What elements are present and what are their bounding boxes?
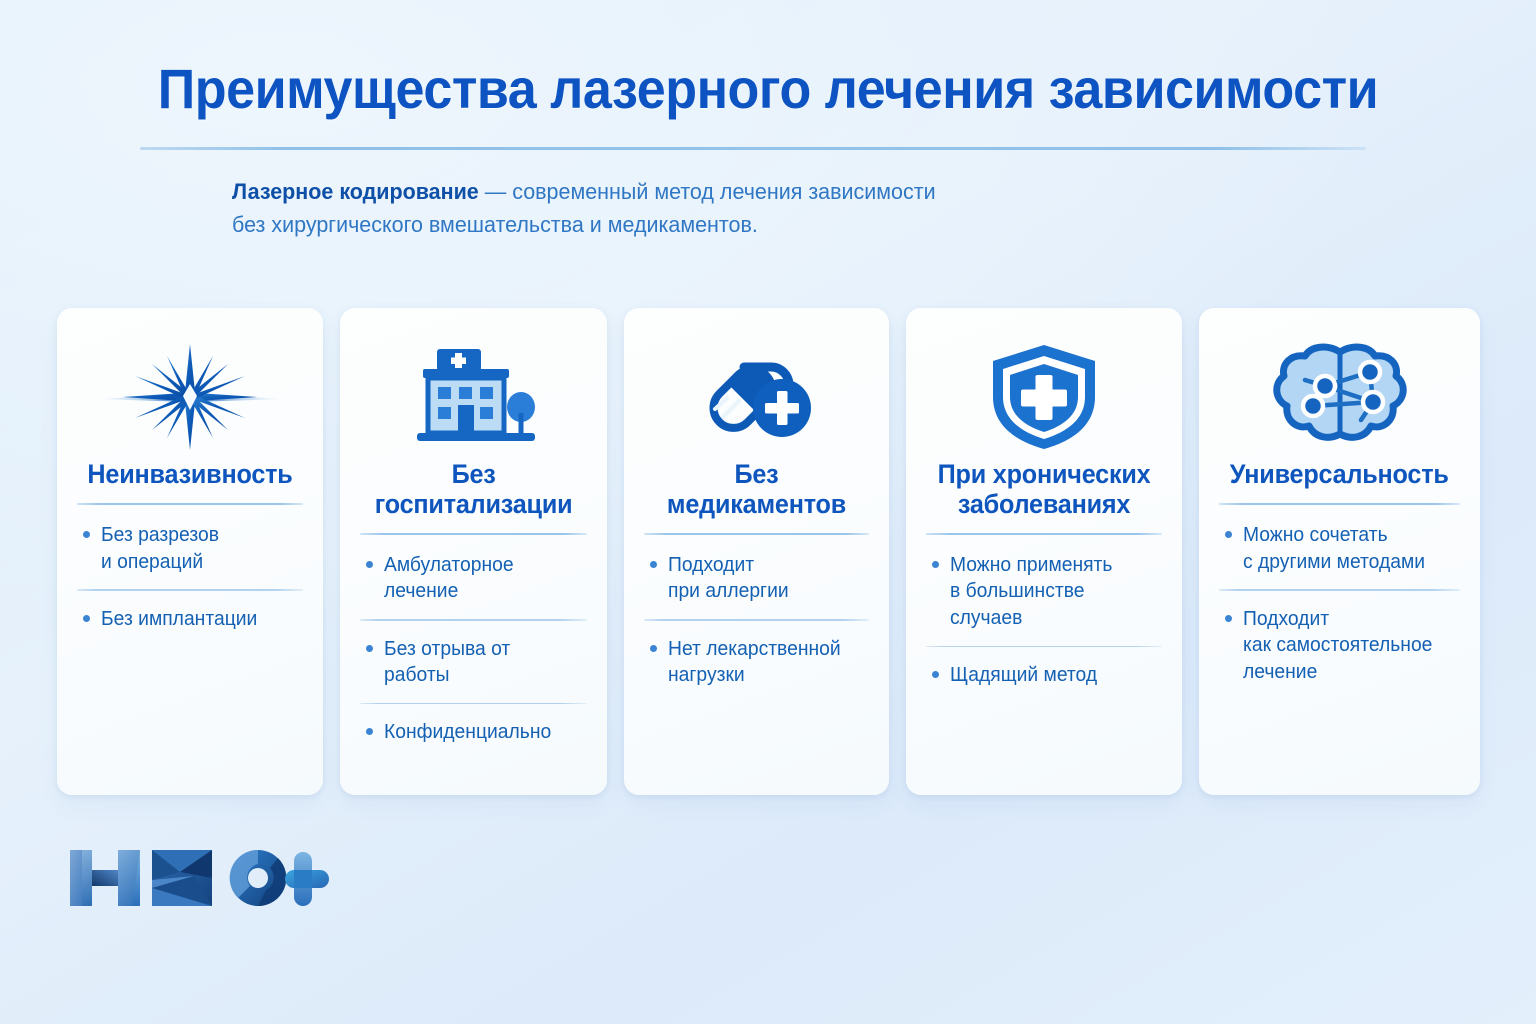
bullet-dot-icon — [83, 531, 90, 538]
card-title: Универсальность — [1230, 460, 1449, 490]
pill-capsule-icon — [687, 338, 827, 456]
bullet-text: Подходит при аллергии — [668, 552, 789, 605]
bullet-text: Нет лекарственной нагрузки — [668, 636, 841, 689]
card-bullets: Подходит при аллергии Нет лекарственной … — [644, 537, 869, 689]
bullet-text: Конфиденциально — [384, 719, 551, 746]
bullet-text: Без имплантации — [101, 606, 257, 633]
card-title: Без медикаментов — [650, 460, 864, 520]
bullet-dot-icon — [650, 645, 657, 652]
card-title: Без госпитализации — [366, 460, 582, 520]
benefit-card-noninvasive[interactable]: Неинвазивность Без разрезов и операций Б… — [57, 308, 323, 795]
shield-cross-icon — [979, 338, 1109, 456]
benefit-card-no-hospitalization[interactable]: Без госпитализации Амбулаторное лечение … — [340, 308, 607, 795]
subtitle-dash: — — [479, 179, 512, 204]
list-item: Нет лекарственной нагрузки — [644, 621, 869, 689]
list-item: Можно применять в большинстве случаев — [926, 537, 1162, 632]
list-item: Конфиденциально — [360, 704, 587, 746]
bullet-dot-icon — [366, 728, 373, 735]
list-item: Амбулаторное лечение — [360, 537, 587, 605]
subtitle-bold-term: Лазерное кодирование — [232, 179, 479, 204]
subtitle: Лазерное кодирование — современный метод… — [232, 175, 1168, 242]
card-title-divider — [644, 533, 869, 535]
list-item: Щадящий метод — [926, 647, 1162, 689]
neo-plus-logo[interactable] — [62, 838, 332, 918]
list-item: Без отрыва от работы — [360, 621, 587, 689]
card-title: Неинвазивность — [87, 460, 292, 490]
card-title-divider — [360, 533, 587, 535]
subtitle-line2: без хирургического вмешательства и медик… — [232, 212, 758, 237]
title-divider — [140, 147, 1366, 150]
card-title-divider — [77, 503, 303, 505]
bullet-text: Без разрезов и операций — [101, 522, 219, 575]
card-bullets: Можно сочетать с другими методами Подход… — [1219, 507, 1460, 686]
bullet-dot-icon — [650, 561, 657, 568]
bullet-dot-icon — [932, 671, 939, 678]
bullet-text: Амбулаторное лечение — [384, 552, 514, 605]
card-title-divider — [926, 533, 1162, 535]
bullet-dot-icon — [1225, 615, 1232, 622]
bullet-dot-icon — [366, 645, 373, 652]
benefit-card-no-medication[interactable]: Без медикаментов Подходит при аллергии Н… — [624, 308, 889, 795]
brain-network-icon — [1265, 338, 1415, 456]
bullet-dot-icon — [932, 561, 939, 568]
list-item: Подходит как самостоятельное лечение — [1219, 591, 1460, 686]
subtitle-rest: современный метод лечения зависимости — [512, 179, 935, 204]
list-item: Можно сочетать с другими методами — [1219, 507, 1460, 575]
card-bullets: Амбулаторное лечение Без отрыва от работ… — [360, 537, 587, 746]
bullet-dot-icon — [83, 615, 90, 622]
list-item: Без разрезов и операций — [77, 507, 303, 575]
benefit-card-chronic-conditions[interactable]: При хронических заболеваниях Можно приме… — [906, 308, 1182, 795]
bullet-text: Щадящий метод — [950, 662, 1097, 689]
benefit-cards: Неинвазивность Без разрезов и операций Б… — [57, 308, 1480, 795]
benefit-card-universality[interactable]: Универсальность Можно сочетать с другими… — [1199, 308, 1480, 795]
laser-burst-icon — [95, 338, 285, 456]
page-title: Преимущества лазерного лечения зависимос… — [54, 56, 1482, 121]
list-item: Без имплантации — [77, 591, 303, 633]
bullet-text: Можно применять в большинстве случаев — [950, 552, 1155, 632]
hospital-building-icon — [399, 338, 549, 456]
card-bullets: Можно применять в большинстве случаев Ща… — [926, 537, 1162, 689]
bullet-dot-icon — [1225, 531, 1232, 538]
bullet-text: Можно сочетать с другими методами — [1243, 522, 1425, 575]
card-title: При хронических заболеваниях — [938, 460, 1151, 520]
card-title-divider — [1219, 503, 1460, 505]
card-bullets: Без разрезов и операций Без имплантации — [77, 507, 303, 632]
bullet-dot-icon — [366, 561, 373, 568]
bullet-text: Подходит как самостоятельное лечение — [1243, 606, 1432, 686]
bullet-text: Без отрыва от работы — [384, 636, 580, 689]
list-item: Подходит при аллергии — [644, 537, 869, 605]
infographic-root: Преимущества лазерного лечения зависимос… — [0, 0, 1536, 1024]
